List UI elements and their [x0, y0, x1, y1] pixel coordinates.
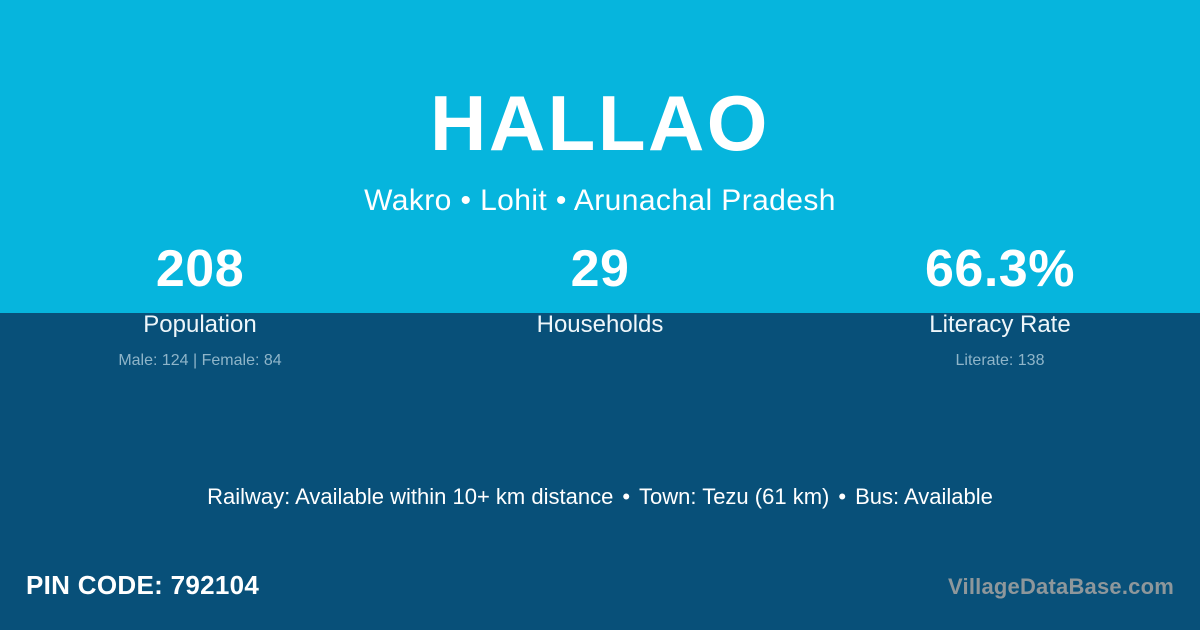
stat-value-population: 208: [0, 243, 400, 299]
card-footer: PIN CODE: 792104 VillageDataBase.com: [0, 560, 1200, 630]
village-info-card: HALLAO Wakro • Lohit • Arunachal Pradesh…: [0, 0, 1200, 630]
stat-sub-population: Male: 124 | Female: 84: [0, 353, 400, 369]
stat-sub-literacy-rate: Literate: 138: [800, 353, 1200, 369]
info-railway: Railway: Available within 10+ km distanc…: [207, 484, 613, 509]
info-bus: Bus: Available: [855, 484, 993, 509]
stat-value-households: 29: [400, 243, 800, 299]
breadcrumb: Wakro • Lohit • Arunachal Pradesh: [0, 162, 1200, 216]
stat-sub-households: [400, 353, 800, 369]
page-title: HALLAO: [0, 0, 1200, 162]
stat-label-population: Population: [0, 313, 400, 337]
stat-population: 208 Population Male: 124 | Female: 84: [0, 243, 400, 369]
stats-row: 208 Population Male: 124 | Female: 84 29…: [0, 243, 1200, 369]
site-watermark: VillageDataBase.com: [948, 576, 1174, 598]
stat-literacy-rate: 66.3% Literacy Rate Literate: 138: [800, 243, 1200, 369]
stat-label-households: Households: [400, 313, 800, 337]
info-separator-2: •: [829, 484, 855, 509]
info-separator-1: •: [613, 484, 639, 509]
info-town: Town: Tezu (61 km): [639, 484, 829, 509]
pin-code: PIN CODE: 792104: [26, 572, 259, 598]
stat-households: 29 Households: [400, 243, 800, 369]
connectivity-info: Railway: Available within 10+ km distanc…: [0, 486, 1200, 508]
stat-label-literacy-rate: Literacy Rate: [800, 313, 1200, 337]
stat-value-literacy-rate: 66.3%: [800, 243, 1200, 299]
card-header: HALLAO Wakro • Lohit • Arunachal Pradesh: [0, 0, 1200, 216]
